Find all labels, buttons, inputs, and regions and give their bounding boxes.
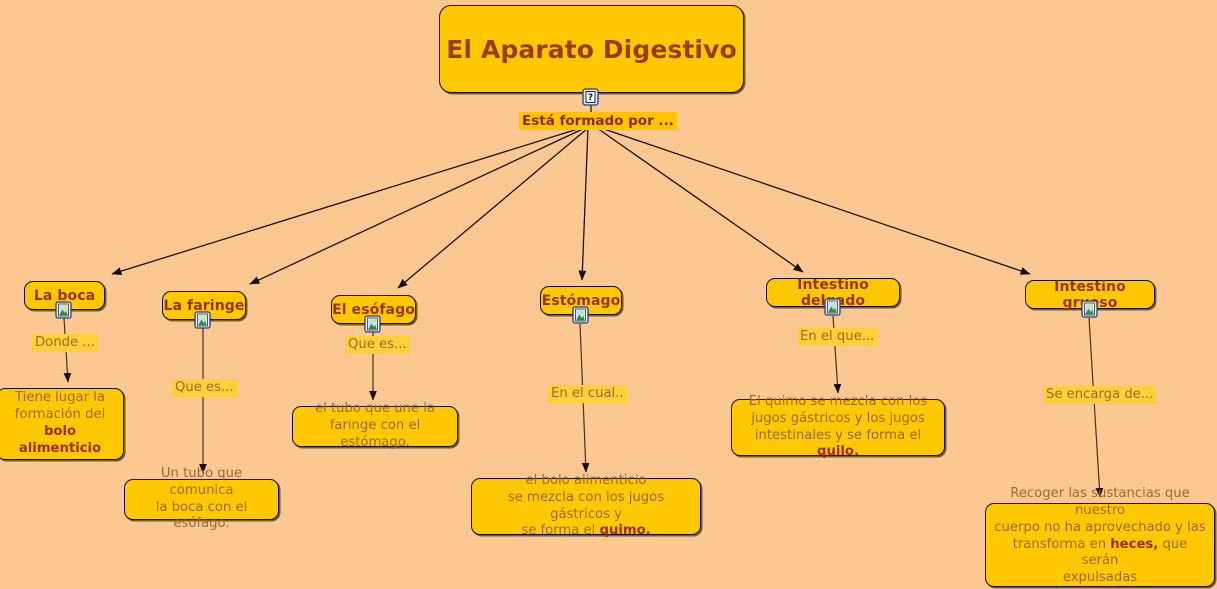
esofago-detail-line-1: el tubo que une la bbox=[301, 401, 449, 418]
node-esofago-detail[interactable]: el tubo que une la faringe con el estóma… bbox=[292, 406, 458, 447]
node-boca-detail[interactable]: Tiene lugar la formación del bolo alimen… bbox=[0, 388, 124, 460]
delgado-detail-line-3b: quilo. bbox=[817, 444, 859, 459]
esofago-detail-line-2: faringe con el estómago. bbox=[301, 418, 449, 452]
edge-root-to-intestino-delgado bbox=[597, 128, 803, 272]
link-label-boca: Donde ... bbox=[32, 334, 98, 352]
grueso-detail-line-3a: transforma en bbox=[1013, 537, 1111, 552]
boca-detail-line-2: formación del bbox=[5, 407, 115, 424]
link-label-faringe: Que es... bbox=[172, 379, 237, 397]
grueso-detail-line-3b: heces, bbox=[1110, 537, 1158, 552]
faringe-detail-line-1: Un tubo que comunica bbox=[133, 466, 270, 500]
node-intestino-delgado-detail[interactable]: El quimo se mezcla con los jugos gástric… bbox=[731, 399, 945, 456]
grueso-detail-line-2: cuerpo no ha aprovechado y las bbox=[994, 520, 1206, 537]
link-label-root: Está formado por ... bbox=[519, 112, 677, 130]
svg-text:?: ? bbox=[588, 93, 593, 103]
picture-icon[interactable] bbox=[1081, 300, 1098, 319]
grueso-detail-line-4: expulsadas bbox=[994, 570, 1206, 587]
edge-root-to-intestino-grueso bbox=[601, 128, 1030, 274]
boca-detail-line-1: Tiene lugar la bbox=[5, 390, 115, 407]
delgado-detail-line-3a: intestinales y se forma el bbox=[755, 428, 921, 443]
node-root-label: El Aparato Digestivo bbox=[446, 35, 737, 64]
picture-icon[interactable] bbox=[364, 315, 381, 334]
node-intestino-grueso-detail[interactable]: Recoger las sustancias que nuestro cuerp… bbox=[985, 503, 1215, 587]
link-label-estomago: En el cual.. bbox=[548, 385, 627, 403]
delgado-detail-line-2: jugos gástricos y los jugos bbox=[740, 411, 936, 428]
picture-icon[interactable] bbox=[572, 306, 589, 325]
link-label-intestino-delgado: En el que... bbox=[797, 328, 877, 346]
edge-root-to-esofago bbox=[398, 128, 588, 288]
picture-icon[interactable] bbox=[194, 311, 211, 330]
node-faringe-detail[interactable]: Un tubo que comunica la boca con el esóf… bbox=[124, 479, 279, 520]
picture-icon[interactable] bbox=[824, 298, 841, 317]
node-root[interactable]: El Aparato Digestivo bbox=[439, 5, 744, 93]
estomago-detail-line-3b: quimo. bbox=[600, 523, 651, 538]
edge-root-to-faringe bbox=[250, 128, 585, 284]
edge-grueso-to-detail bbox=[1089, 318, 1100, 497]
delgado-detail-line-1: El quimo se mezcla con los bbox=[740, 394, 936, 411]
link-label-intestino-grueso: Se encarga de... bbox=[1043, 386, 1156, 404]
boca-detail-line-3: bolo alimenticio bbox=[19, 424, 101, 456]
picture-icon[interactable] bbox=[55, 301, 72, 320]
link-label-esofago: Que es... bbox=[345, 336, 410, 354]
grueso-detail-line-1: Recoger las sustancias que nuestro bbox=[994, 486, 1206, 520]
edge-root-to-boca bbox=[112, 128, 581, 274]
estomago-detail-line-2: se mezcla con los jugos gástricos y bbox=[480, 490, 692, 524]
faringe-detail-line-2: la boca con el esófago. bbox=[133, 500, 270, 534]
node-estomago-detail[interactable]: el bolo alimenticio se mezcla con los ju… bbox=[471, 478, 701, 535]
edge-root-to-estomago bbox=[582, 128, 588, 280]
estomago-detail-line-3a: se forma el bbox=[521, 523, 599, 538]
estomago-detail-line-1: el bolo alimenticio bbox=[480, 473, 692, 490]
concept-map-canvas: El Aparato Digestivo ? Está formado por … bbox=[0, 0, 1217, 589]
question-document-icon[interactable]: ? bbox=[582, 88, 599, 107]
